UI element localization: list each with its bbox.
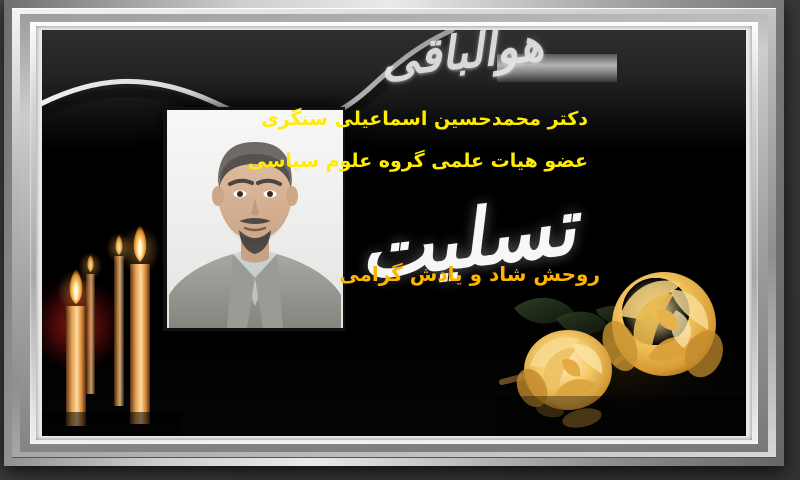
deceased-role: عضو هیات علمی گروه علوم سیاسی <box>248 150 589 172</box>
deceased-name: دکتر محمدحسین اسماعیلی سنگری <box>261 108 588 130</box>
memorial-poster: هوالباقی <box>0 0 800 480</box>
yellow-roses-icon <box>496 266 746 436</box>
poster-canvas: هوالباقی <box>42 30 746 436</box>
left-dark-blend <box>42 196 162 436</box>
portrait-photo <box>167 110 343 328</box>
